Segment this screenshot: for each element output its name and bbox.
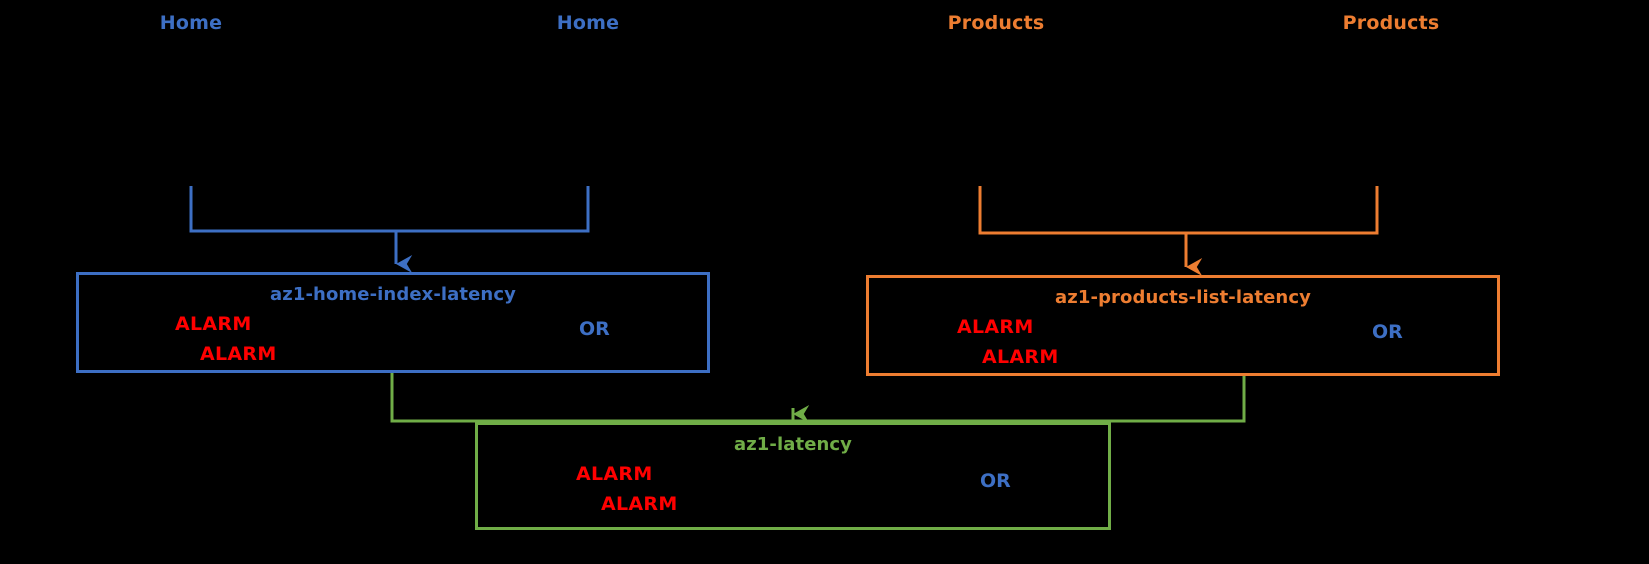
source-label-home-1: Home <box>160 12 222 34</box>
alarm-box-az1-latency[interactable]: az1-latency ALARM ALARM OR <box>475 422 1111 530</box>
source-label-products-1: Products <box>948 12 1045 34</box>
alarm-state: ALARM <box>200 343 277 365</box>
alarm-state: ALARM <box>576 463 653 485</box>
alarm-box-title: az1-home-index-latency <box>79 284 707 305</box>
alarm-state: ALARM <box>601 493 678 515</box>
alarm-box-title: az1-latency <box>478 434 1108 455</box>
wire-az1-bracket <box>392 373 1244 421</box>
source-label-home-2: Home <box>557 12 619 34</box>
alarm-box-az1-home-index-latency[interactable]: az1-home-index-latency ALARM ALARM OR <box>76 272 710 373</box>
alarm-state: ALARM <box>175 313 252 335</box>
wire-home-bracket <box>191 186 588 264</box>
alarm-box-title: az1-products-list-latency <box>869 287 1497 308</box>
alarm-rule-operator: OR <box>980 470 1011 492</box>
alarm-state: ALARM <box>982 346 1059 368</box>
alarm-hierarchy-diagram: Home Home Products Products <box>0 0 1649 564</box>
alarm-rule-operator: OR <box>579 318 610 340</box>
alarm-box-az1-products-list-latency[interactable]: az1-products-list-latency ALARM ALARM OR <box>866 275 1500 376</box>
alarm-rule-operator: OR <box>1372 321 1403 343</box>
alarm-state: ALARM <box>957 316 1034 338</box>
wire-products-bracket <box>980 186 1377 267</box>
source-label-products-2: Products <box>1343 12 1440 34</box>
